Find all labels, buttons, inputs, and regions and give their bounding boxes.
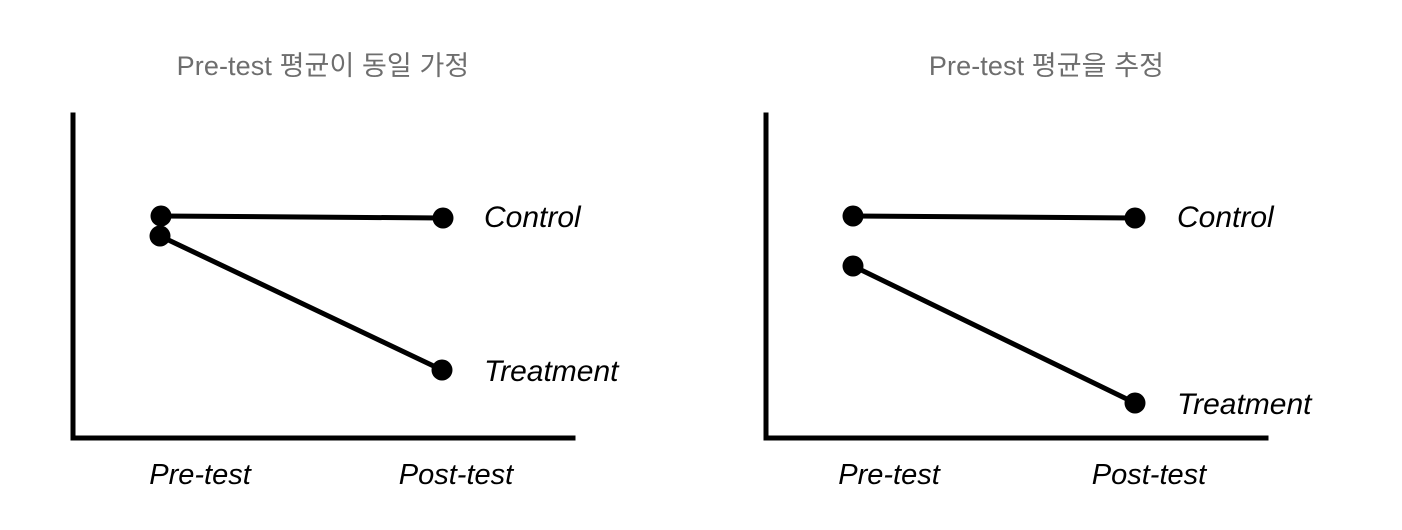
control-posttest-point bbox=[433, 208, 454, 229]
control-series-label: Control bbox=[484, 201, 582, 234]
x-tick-label-posttest: Post-test bbox=[399, 459, 515, 491]
treatment-series-label: Treatment bbox=[1177, 388, 1313, 421]
chart-panel-estimated-pretest: Pre-test 평균을 추정 Control Treatment Pre-te… bbox=[701, 0, 1402, 530]
line-chart-assumed-equal-pretest: Control Treatment Pre-test Post-test bbox=[0, 0, 701, 530]
control-series-label: Control bbox=[1177, 201, 1275, 234]
treatment-pretest-point bbox=[150, 226, 171, 247]
treatment-series-label: Treatment bbox=[484, 355, 620, 388]
x-tick-label-posttest: Post-test bbox=[1092, 459, 1208, 491]
chart-panel-assumed-equal-pretest: Pre-test 평균이 동일 가정 Control Treatment Pre… bbox=[0, 0, 701, 530]
x-tick-label-pretest: Pre-test bbox=[149, 459, 252, 491]
figure-root: Pre-test 평균이 동일 가정 Control Treatment Pre… bbox=[0, 0, 1402, 530]
control-posttest-point bbox=[1125, 208, 1146, 229]
control-line bbox=[161, 216, 443, 218]
treatment-posttest-point bbox=[432, 360, 453, 381]
control-pretest-point bbox=[151, 206, 172, 227]
x-tick-label-pretest: Pre-test bbox=[838, 459, 941, 491]
control-line bbox=[853, 216, 1135, 218]
control-pretest-point bbox=[843, 206, 864, 227]
treatment-line bbox=[853, 266, 1135, 403]
chart-axes bbox=[73, 115, 573, 438]
treatment-posttest-point bbox=[1125, 393, 1146, 414]
treatment-pretest-point bbox=[843, 256, 864, 277]
treatment-line bbox=[160, 236, 442, 370]
line-chart-estimated-pretest: Control Treatment Pre-test Post-test bbox=[701, 0, 1402, 530]
